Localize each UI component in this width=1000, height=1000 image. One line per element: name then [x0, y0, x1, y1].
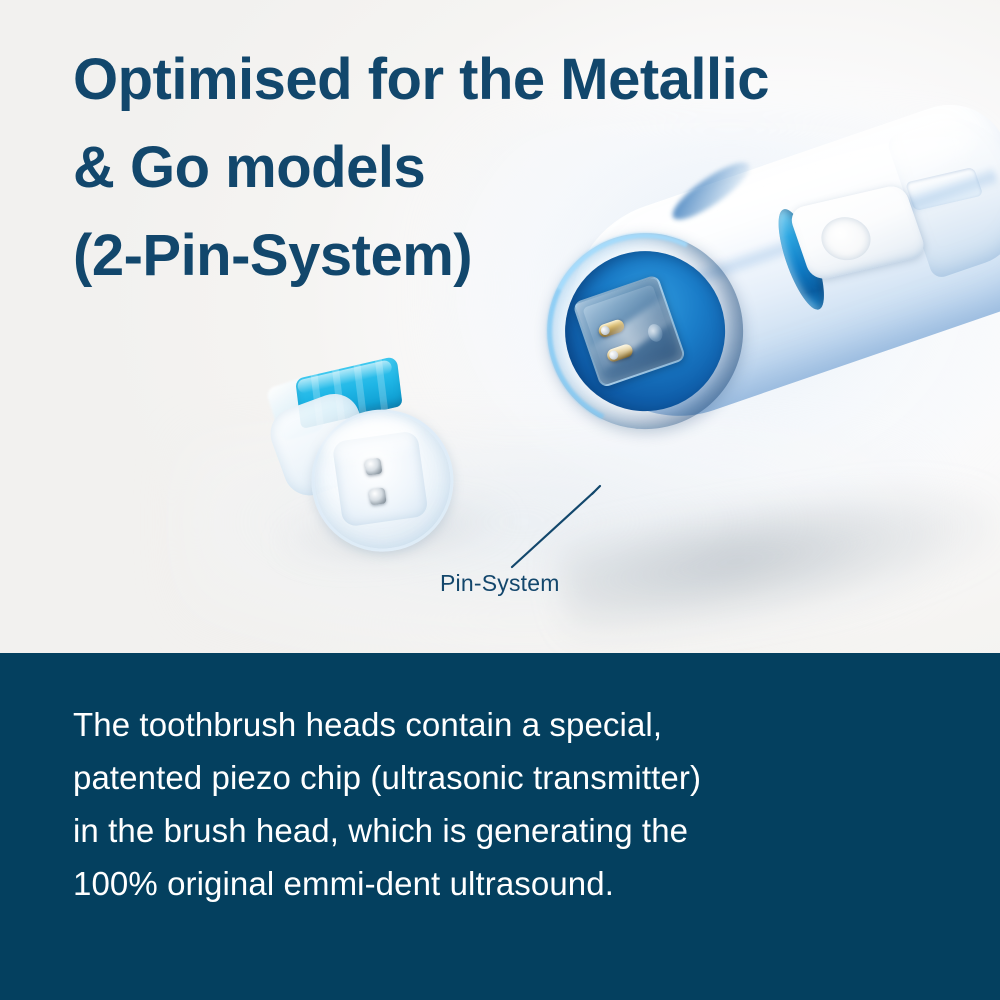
description-line-1: The toothbrush heads contain a special,: [73, 698, 953, 751]
description-text: The toothbrush heads contain a special, …: [73, 698, 953, 910]
socket-contact: [369, 487, 387, 505]
product-photo-area: Pin-System Optimised for the Metallic & …: [0, 0, 1000, 653]
description-line-3: in the brush head, which is generating t…: [73, 804, 953, 857]
product-feature-poster: Pin-System Optimised for the Metallic & …: [0, 0, 1000, 1000]
description-panel: The toothbrush heads contain a special, …: [0, 653, 1000, 1000]
headline-line-3: (2-Pin-System): [73, 212, 973, 300]
description-line-2: patented piezo chip (ultrasonic transmit…: [73, 751, 953, 804]
page-title: Optimised for the Metallic & Go models (…: [73, 36, 973, 300]
description-line-4: 100% original emmi-dent ultrasound.: [73, 857, 953, 910]
headline-line-2: & Go models: [73, 124, 973, 212]
callout-label-pin-system: Pin-System: [440, 570, 560, 597]
headline-line-1: Optimised for the Metallic: [73, 36, 973, 124]
brush-head: [260, 344, 524, 566]
